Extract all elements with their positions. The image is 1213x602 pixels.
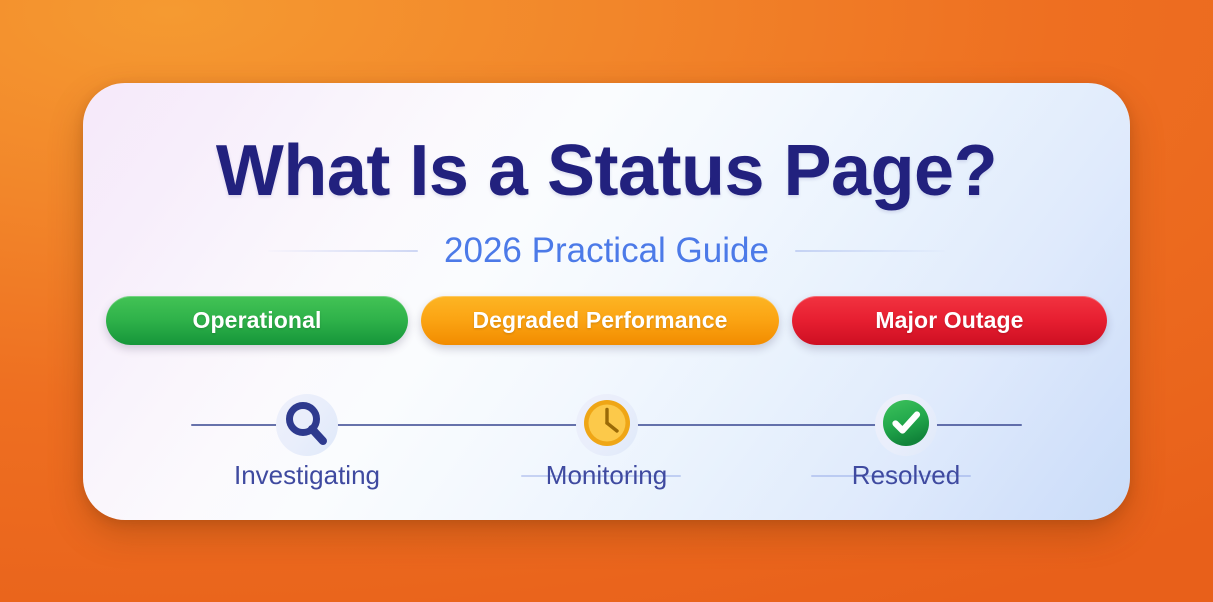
timeline-stage-label: Investigating [234,462,380,488]
timeline-stage-list: Investigating Monitoring [191,394,1022,494]
status-pill-major-outage[interactable]: Major Outage [792,296,1107,345]
timeline-stage-investigating[interactable]: Investigating [217,394,397,488]
status-pill-operational[interactable]: Operational [106,296,408,345]
timeline-stage-resolved[interactable]: Resolved [816,394,996,488]
status-pill-degraded-performance[interactable]: Degraded Performance [421,296,779,345]
timeline-stage-label: Resolved [852,462,960,488]
magnifier-icon [279,394,335,456]
page-subtitle: 2026 Practical Guide [444,233,769,268]
check-circle-icon [878,394,934,456]
timeline-stage-label: Monitoring [546,462,667,488]
incident-timeline: Investigating Monitoring [191,394,1022,494]
status-page-card: What Is a Status Page? 2026 Practical Gu… [83,83,1130,520]
subtitle-rule-left [268,250,418,252]
card-content: What Is a Status Page? 2026 Practical Gu… [83,83,1130,520]
clock-icon [579,394,635,456]
timeline-stage-monitoring[interactable]: Monitoring [517,394,697,488]
infographic-canvas: What Is a Status Page? 2026 Practical Gu… [0,0,1213,602]
status-pill-row: Operational Degraded Performance Major O… [106,296,1107,345]
subtitle-row: 2026 Practical Guide [83,233,1130,268]
subtitle-rule-right [795,250,945,252]
page-title: What Is a Status Page? [216,135,997,207]
